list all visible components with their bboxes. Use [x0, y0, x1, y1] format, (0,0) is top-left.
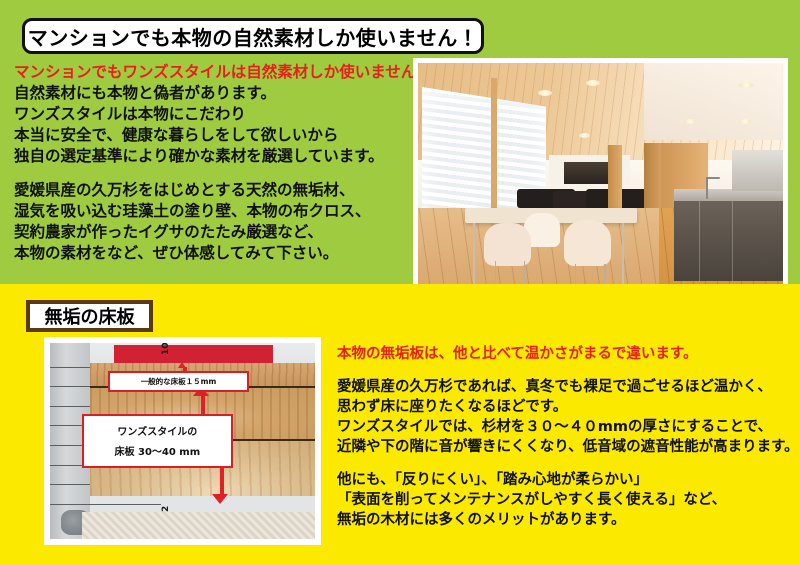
interior-downlight-4 — [684, 119, 696, 124]
section1-p1-line-4: 独自の選定基準により確かな素材を厳選しています。 — [14, 146, 414, 167]
section2-p2-line-1: 思わず床に座りたくなるほどです。 — [337, 397, 792, 417]
section2-paragraph-gap-2 — [337, 457, 792, 470]
thickness-arrow-2-head-down — [212, 494, 228, 504]
interior-downlight-5 — [739, 119, 751, 124]
section2-heading-box: 無垢の床板 — [26, 300, 153, 332]
interior-chair-front-left — [484, 223, 531, 267]
callout-ones-style-line1: ワンズスタイルの — [117, 423, 197, 438]
interior-cabinet-seam-2 — [732, 201, 733, 281]
section1-p2-line-0: 愛媛県産の久万杉をはじめとする天然の無垢材、 — [14, 180, 414, 201]
section2-p3-line-0: 他にも、「反りにくい」、「踏み心地が柔らかい」 — [337, 470, 792, 490]
interior-cabinet-seam-1 — [699, 201, 700, 281]
section1-p1-line-3: 本当に安全で、健康な暮らしをして欲しいから — [14, 125, 414, 146]
section1-paragraph-gap — [14, 167, 414, 180]
section1-body: マンションでもワンズスタイルは自然素材しか使いません。 自然素材にも本物と偽者が… — [14, 62, 414, 264]
thickness-arrow-small-head-up — [178, 362, 186, 368]
poster-page: マンションでも本物の自然素材しか使いません！ マンションでもワンズスタイルは自然… — [0, 0, 800, 565]
interior-kitchen-cabinet — [674, 201, 784, 281]
interior-downlight-3 — [579, 133, 590, 138]
section2-paragraph-gap-1 — [337, 364, 792, 377]
interior-photo-inner — [418, 63, 783, 305]
callout-standard-floorboard-text: 一般的な床板１５mm — [141, 376, 217, 387]
ruler-number: 10 — [161, 343, 171, 355]
interior-faucet — [706, 177, 708, 199]
callout-standard-floorboard: 一般的な床板１５mm — [108, 371, 248, 392]
interior-door-a — [608, 145, 623, 208]
floorboard-underlay — [82, 512, 315, 539]
section1-p1-line-2: ワンズスタイルは本物にこだわり — [14, 104, 414, 125]
interior-table-leg-1 — [473, 223, 475, 288]
floorboard-photo-inner: 10 9 8 7 6 5 4 3 2 — [50, 343, 315, 539]
interior-photo — [413, 58, 788, 310]
section2-p3-line-1: 「表面を削ってメンテナンスがしやすく長く使える」など、 — [337, 490, 792, 510]
section2-p2-line-2: ワンズスタイルでは、杉材を３０～４０mmの厚さにすることで、 — [337, 417, 792, 437]
callout-ones-style-line2: 床板 30～40 mm — [115, 443, 201, 458]
section2-p2-line-3: 近隣や下の階に音が響きにくくなり、低音域の遮音性能が高まります。 — [337, 437, 792, 457]
interior-table-leg-2 — [622, 223, 624, 288]
ruler-red-marker — [114, 345, 273, 363]
section1-p1-line-1: 自然素材にも本物と偽者があります。 — [14, 83, 414, 104]
interior-refrigerator — [732, 150, 783, 191]
section2-p1-line-0: 本物の無垢板は、他と比べて温かさがまるで違います。 — [337, 344, 792, 364]
section2-heading-text: 無垢の床板 — [45, 303, 135, 329]
section1-p2-line-3: 本物の素材をなど、ぜひ体感してみて下さい。 — [14, 243, 414, 264]
section2-p2-line-0: 愛媛県産の久万杉であれば、真冬でも裸足で過ごせるほど温かく、 — [337, 377, 792, 397]
ruler-tick — [50, 504, 161, 505]
interior-downlight-1 — [538, 90, 552, 96]
callout-ones-style-floorboard: ワンズスタイルの 床板 30～40 mm — [82, 414, 233, 469]
section2-p3-line-2: 無垢の木材には多くのメリットがあります。 — [337, 510, 792, 530]
interior-ceiling-right — [644, 63, 783, 140]
section1-p2-line-2: 契約農家が作ったイグサのたたみ厳選など、 — [14, 222, 414, 243]
interior-chair-front-right — [564, 220, 611, 266]
interior-downlight-2 — [586, 80, 600, 86]
section1-p2-line-1: 湿気を吸い込む珪藻土の塗り壁、本物の布クロス、 — [14, 201, 414, 222]
floorboard-photo: 10 9 8 7 6 5 4 3 2 — [44, 337, 321, 545]
section1-heading-box: マンションでも本物の自然素材しか使いません！ — [22, 18, 484, 54]
section2-body: 本物の無垢板は、他と比べて温かさがまるで違います。 愛媛県産の久万杉であれば、真… — [337, 344, 792, 530]
section1-p1-line-0: マンションでもワンズスタイルは自然素材しか使いません。 — [14, 62, 414, 83]
section1-heading-text: マンションでも本物の自然素材しか使いません！ — [28, 22, 478, 51]
